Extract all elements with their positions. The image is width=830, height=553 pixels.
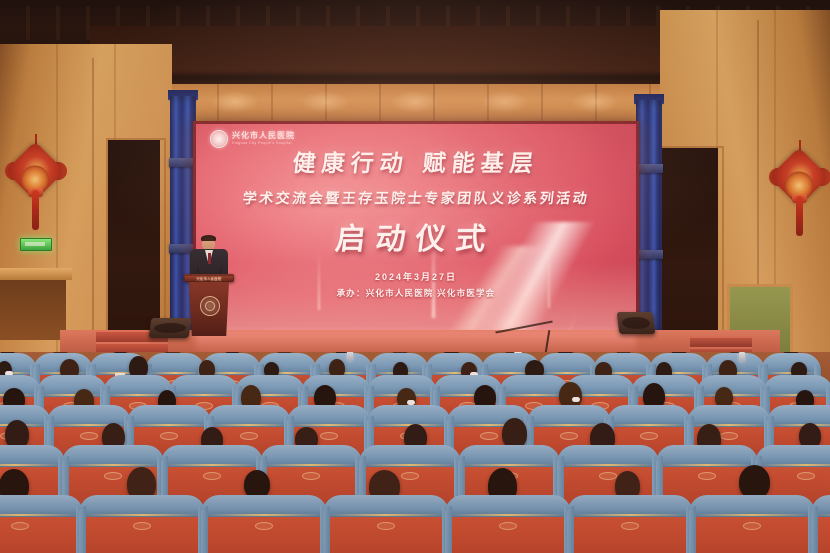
event-host: 承办：兴化市人民医院 兴化市医学会 [196,287,636,299]
exit-sign-icon [20,238,52,251]
seat-gold-trim [463,464,555,466]
seat-badge-logo [104,472,122,480]
audience-member-head [739,465,770,499]
seat-gold-trim [450,514,566,516]
face-mask [572,397,580,402]
auditorium-seat [0,498,80,553]
left-wall-seam [92,58,94,358]
seat-badge-logo [255,522,273,530]
seat-badge-logo [560,432,578,440]
knot-tassel-left [32,190,39,230]
stage-step [690,336,752,347]
event-date: 2024年3月27日 [196,270,636,283]
led-backdrop-screen: 兴化市人民医院 Xinghua City People's Hospital 健… [196,124,636,332]
auditorium-seat [204,498,324,553]
seat-gold-trim [0,464,60,466]
seat-badge-logo [240,432,258,440]
podium-band-text: 兴化市人民医院 [196,276,221,281]
seat-gold-trim [364,464,456,466]
speaker-tie [208,253,211,264]
right-door-frame [658,146,724,352]
seat-badge-logo [377,522,395,530]
seat-gold-trim [562,464,654,466]
auditorium-photo: 兴化市人民医院 Xinghua City People's Hospital 健… [0,0,830,553]
seat-gold-trim [174,394,234,396]
auditorium-seat [570,498,690,553]
seat-badge-logo [480,432,498,440]
right-curtain-tie-1 [635,164,663,173]
raised-phone [347,352,353,361]
seat-gold-trim [67,464,159,466]
seat-gold-trim [132,424,206,426]
auditorium-seat [82,498,202,553]
seat-gold-trim [760,464,830,466]
seat-badge-logo [11,522,29,530]
led-text-block: 健康行动 赋能基层 学术交流会暨王存玉院士专家团队义诊系列活动 启动仪式 202… [196,124,636,299]
seat-badge-logo [320,432,338,440]
seat-badge-logo [499,522,517,530]
seat-badge-logo [621,522,639,530]
seat-gold-trim [504,394,564,396]
seat-gold-trim [661,464,753,466]
seat-gold-trim [84,514,200,516]
auditorium-seat [692,498,812,553]
seat-gold-trim [206,514,322,516]
seat-badge-logo [203,472,221,480]
right-curtain-tie-2 [635,250,663,259]
seat-gold-trim [572,514,688,516]
left-wall-recess [0,280,66,340]
audience-area [0,352,830,553]
seat-gold-trim [265,464,357,466]
auditorium-seat [326,498,446,553]
seat-gold-trim [694,514,810,516]
podium-emblem-icon [200,296,220,316]
seat-gold-trim [772,424,830,426]
seat-gold-trim [150,372,200,374]
stage-monitor-right [617,312,656,334]
seat-gold-trim [816,514,830,516]
chinese-knot-right [772,150,828,242]
auditorium-seat [814,498,830,553]
seat-badge-logo [160,432,178,440]
podium-name-band: 兴化市人民医院 [185,276,233,281]
auditorium-seat [448,498,568,553]
right-stage-curtain [636,100,662,332]
seat-gold-trim [612,424,686,426]
knot-tassel-right [796,196,803,236]
seat-gold-trim [292,424,366,426]
seat-gold-trim [542,372,592,374]
podium-with-speaker: 兴化市人民医院 [178,236,240,340]
seat-gold-trim [166,464,258,466]
seat-gold-trim [0,514,78,516]
raised-phone [739,352,745,362]
seat-gold-trim [328,514,444,516]
event-subtitle: 学术交流会暨王存玉院士专家团队义诊系列活动 [196,188,636,208]
seat-badge-logo [797,472,815,480]
seat-badge-logo [80,432,98,440]
event-main-title: 启动仪式 [196,214,636,258]
seat-badge-logo [599,472,617,480]
chinese-knot-left [8,144,64,236]
seat-badge-logo [401,472,419,480]
left-wall-ledge [0,268,72,280]
left-curtain-tie-1 [169,158,197,167]
seat-badge-logo [640,432,658,440]
seat-badge-logo [302,472,320,480]
seat-badge-logo [133,522,151,530]
seat-badge-logo [698,472,716,480]
face-mask [407,400,415,405]
seat-gold-trim [212,424,286,426]
seat-badge-logo [720,432,738,440]
seat-badge-logo [743,522,761,530]
event-headline: 健康行动 赋能基层 [196,144,636,178]
